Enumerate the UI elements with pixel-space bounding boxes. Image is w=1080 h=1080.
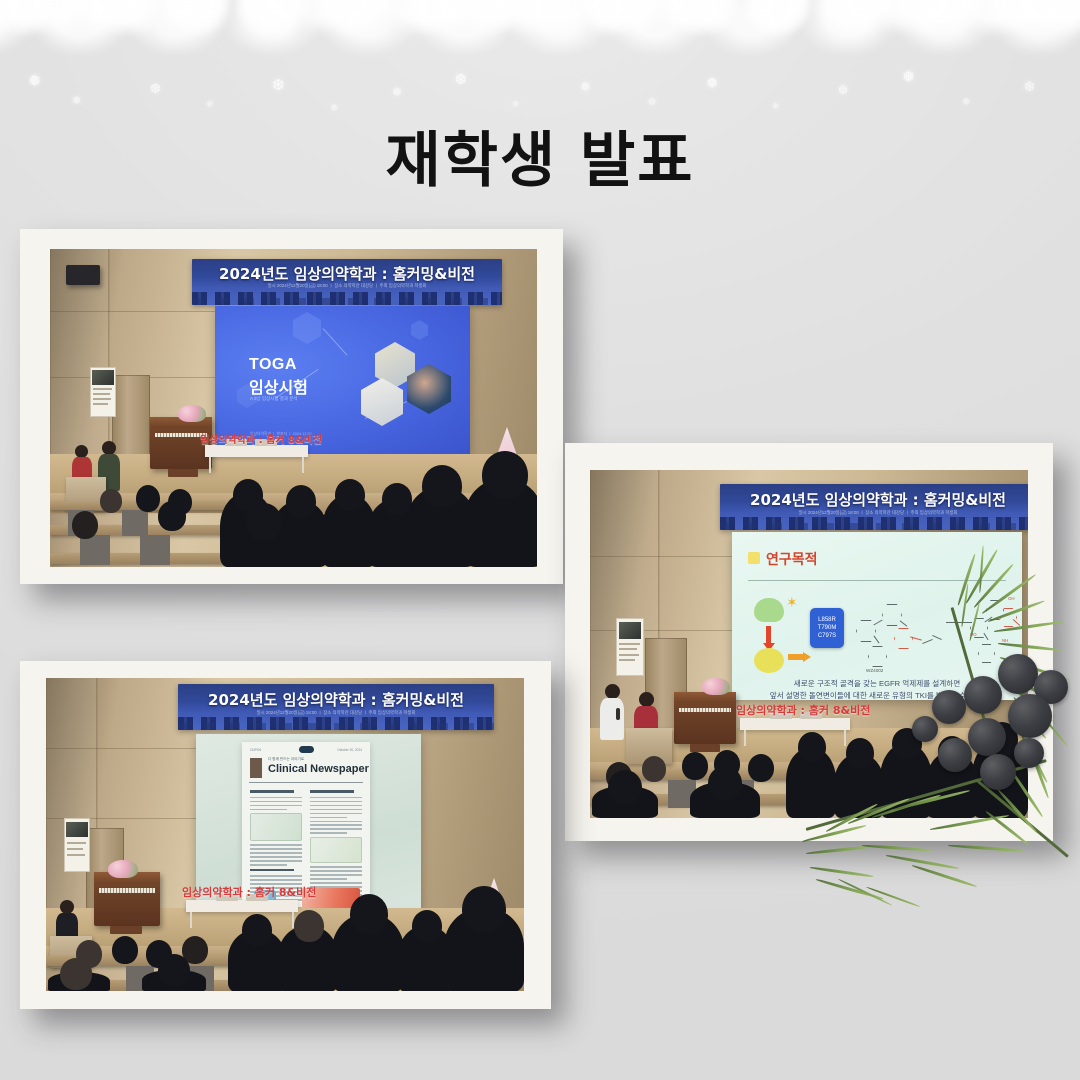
banner-title: 2024년도 임상의약학과 : 홈커밍&비전 <box>208 689 464 710</box>
poster-photo <box>66 822 87 838</box>
presenter-1 <box>600 684 624 740</box>
right-arrow-icon <box>788 654 804 660</box>
star-icon: ✶ <box>786 594 798 611</box>
bond-line <box>983 633 988 640</box>
text-line <box>310 821 362 823</box>
microphone-icon <box>616 708 620 720</box>
text-line <box>310 874 362 876</box>
hex-decor <box>411 320 428 340</box>
audience-head <box>136 485 160 512</box>
text-line <box>310 870 362 872</box>
text-line <box>310 828 362 830</box>
banner-title: 2024년도 임상의약학과 : 홈커밍&비전 <box>219 263 475 284</box>
poster-photo <box>92 370 113 384</box>
text-line <box>310 866 362 868</box>
stage-table <box>740 718 850 730</box>
chemical-structure-right: OH HO NH <box>968 588 1022 680</box>
slide-rule <box>748 580 1006 581</box>
text-line <box>310 801 362 803</box>
poster-canvas: ❅ ❅ ❆ ❅ ❆ ❅ ❅ ❆ ❅ ❅ ❆ ❅ ❅ ❆ ❅ ❅ ❆ 재학생 발표 <box>0 0 1080 1080</box>
text-line <box>250 856 302 858</box>
text-line <box>310 809 362 811</box>
newspaper-column-right <box>310 787 362 898</box>
piano-bench <box>690 744 720 752</box>
banner-title: 2024년도 임상의약학과 : 홈커밍&비전 <box>750 489 1006 510</box>
newspaper-rule <box>249 782 363 783</box>
piano-keys <box>99 888 154 892</box>
text-line <box>250 801 302 803</box>
column-figure <box>310 837 362 863</box>
bond-line <box>874 636 880 644</box>
poster-line <box>93 388 112 390</box>
text-line <box>250 848 302 850</box>
audience-head <box>892 728 922 759</box>
newspaper-logo <box>250 758 262 778</box>
down-arrow-icon <box>766 626 771 644</box>
stage-table <box>205 445 308 457</box>
audience-head <box>242 914 272 946</box>
newspaper-ko-subtitle: 다 함께 만드는 이야기로 <box>268 757 304 762</box>
text-line <box>310 805 362 807</box>
column-subhead <box>250 869 294 872</box>
protein-blob-green <box>754 598 784 622</box>
lecture-hall-scene: 2024년도 임상의약학과 : 홈커밍&비전 Homecoming & Visi… <box>590 470 1028 818</box>
wall-seam <box>46 748 206 749</box>
photo-card-clinical-newspaper[interactable]: 2024년도 임상의약학과 : 홈커밍&비전 Homecoming & Visi… <box>20 661 551 1009</box>
poster-line <box>619 659 635 661</box>
text-line <box>250 875 302 877</box>
wall-poster <box>64 818 90 872</box>
audience-head <box>158 954 190 986</box>
bond-line <box>932 635 942 640</box>
audience-head <box>682 752 708 780</box>
poster-line <box>67 842 86 844</box>
audience-head <box>112 936 138 964</box>
audience-head <box>798 732 826 762</box>
text-line <box>310 817 347 819</box>
stage-sign: 임상의약학과 : 홈커 8&비전 <box>736 702 870 718</box>
slide-heading: 연구목적 <box>766 549 818 569</box>
mutation-label-box: L858R T790M C797S <box>810 608 844 648</box>
piano <box>94 872 160 926</box>
presenter-head <box>60 900 74 914</box>
poster-line <box>67 854 85 856</box>
audience-head <box>608 770 642 804</box>
table-leg <box>190 912 192 928</box>
banner-skyline-back <box>192 298 502 305</box>
poster-line <box>93 398 111 400</box>
audience-head <box>158 501 186 531</box>
poster-photo <box>619 622 642 639</box>
poster-line <box>619 654 639 656</box>
table-leg <box>302 457 304 473</box>
table-leg <box>209 457 211 473</box>
stage-table <box>186 900 298 912</box>
audience-head <box>482 451 528 499</box>
poster-line <box>93 393 110 395</box>
wall-poster <box>616 618 644 676</box>
text-line <box>250 860 302 862</box>
audience-head <box>938 736 966 766</box>
text-line <box>250 797 302 799</box>
audience-head <box>60 958 92 990</box>
lecture-hall-scene: 2024년도 임상의약학과 : 홈커밍&비전 Homecoming & Visi… <box>46 678 524 991</box>
newspaper-masthead: Clinical Newspaper <box>268 763 369 775</box>
stage-sign: 임상의약학과 : 홈커 8&비전 <box>200 431 322 446</box>
lecture-hall-scene: 2024년도 임상의약학과 : 홈커밍&비전 일시 2024년12월20일(금)… <box>50 249 537 567</box>
ceiling-speaker-icon <box>66 265 100 285</box>
protein-blob-yellow <box>754 648 784 673</box>
ray-decor <box>323 328 348 355</box>
stage-sign: 임상의약학과 : 홈커 8&비전 <box>182 884 316 900</box>
audience-head <box>72 511 98 539</box>
projection-screen: 연구목적 ✶ L858R T790M C797S <box>732 532 1022 700</box>
poster-line <box>93 403 108 405</box>
text-line <box>310 878 347 880</box>
presenter-body <box>600 698 624 740</box>
text-line <box>310 813 362 815</box>
slide-subtitle: A 3상 임상시험 결과 분석 <box>250 396 298 402</box>
text-line <box>250 809 287 811</box>
piano-lid <box>674 692 736 703</box>
flower-arrangement <box>108 860 138 878</box>
event-banner: 2024년도 임상의약학과 : 홈커밍&비전 일시 2024년12월20일(금)… <box>192 259 502 305</box>
audience-head <box>246 503 282 541</box>
text-line <box>250 844 302 846</box>
desk-side-panel <box>80 535 110 565</box>
audience-head <box>422 465 462 507</box>
column-headline <box>310 790 354 793</box>
poster-line <box>619 648 637 650</box>
audience-head <box>412 910 442 942</box>
photo-image-clinical-newspaper: 2024년도 임상의약학과 : 홈커밍&비전 Homecoming & Visi… <box>46 678 524 991</box>
presenter-head <box>605 684 620 699</box>
banner-skyline-back <box>720 523 1028 530</box>
text-line <box>310 824 362 826</box>
newspaper-edition: CNP/04 <box>250 748 261 752</box>
text-line <box>250 864 287 866</box>
bond-line <box>873 620 882 626</box>
mutation-1: L858R <box>818 616 836 624</box>
text-line <box>250 879 302 881</box>
hydroxyl-label: OH <box>1008 596 1015 601</box>
poster-line <box>619 643 640 645</box>
column-figure <box>250 813 302 841</box>
event-banner: 2024년도 임상의약학과 : 홈커밍&비전 Homecoming & Visi… <box>178 684 494 730</box>
audience-head <box>642 756 666 782</box>
benzene-ring-highlight <box>894 628 913 649</box>
piano <box>674 692 736 744</box>
bond-line <box>922 639 933 644</box>
text-line <box>310 832 347 834</box>
audience-head <box>846 738 874 768</box>
piano-bench <box>168 469 198 477</box>
piperazine-ring <box>978 644 995 663</box>
desk-side-panel <box>122 510 148 536</box>
slide-caption-line-1: 새로운 구조적 골격을 갖는 EGFR 억제제를 설계하면 <box>732 678 1022 689</box>
event-banner: 2024년도 임상의약학과 : 홈커밍&비전 Homecoming & Visi… <box>720 484 1028 530</box>
slide-title-ko: 임상시험 <box>249 374 308 398</box>
photo-image-toga: 2024년도 임상의약학과 : 홈커밍&비전 일시 2024년12월20일(금)… <box>50 249 537 567</box>
hydroxyl-label: HO <box>970 632 977 637</box>
audience-head <box>286 485 316 518</box>
flower-arrangement <box>178 405 206 422</box>
nitrogen-label: NH <box>1002 638 1008 643</box>
photo-image-research-purpose: 2024년도 임상의약학과 : 홈커밍&비전 Homecoming & Visi… <box>590 470 1028 818</box>
banner-subtitle: 일시 2024년12월20일(금) 18:00 ㅣ 장소 의약학관 대강당 ㅣ … <box>720 510 1028 516</box>
slide-title-en: TOGA <box>249 356 297 374</box>
page-title: 재학생 발표 <box>0 112 1080 199</box>
benzene-ring <box>882 604 902 626</box>
piperazine-ring <box>868 646 887 667</box>
bond-line <box>900 620 908 626</box>
column-headline <box>250 790 294 793</box>
compound-label: WZ4002 <box>866 668 883 673</box>
text-line <box>250 805 302 807</box>
banner-skyline-back <box>178 723 494 730</box>
flower-arrangement <box>702 678 730 695</box>
desk-side-panel <box>140 535 170 565</box>
audience-head <box>986 722 1018 756</box>
photo-card-toga-presentation[interactable]: 2024년도 임상의약학과 : 홈커밍&비전 일시 2024년12월20일(금)… <box>20 229 563 584</box>
banner-subtitle: 일시 2024년12월20일(금) 18:00 ㅣ 장소 의약학관 대강당 ㅣ … <box>178 710 494 716</box>
audience-head <box>708 766 742 800</box>
mutation-3: C797S <box>818 632 836 640</box>
wall-seam <box>108 249 109 454</box>
mutation-2: T790M <box>818 624 837 632</box>
text-line <box>310 882 362 884</box>
audience-head <box>294 910 324 942</box>
poster-line <box>67 848 83 850</box>
text-line <box>310 797 362 799</box>
presenter-head <box>639 692 654 707</box>
table-leg <box>844 730 846 746</box>
presenter-head <box>102 441 116 455</box>
audience-head <box>100 489 122 513</box>
chemical-structure-left: WZ4002 <box>852 592 944 678</box>
newspaper-badge <box>299 746 314 753</box>
slide-caption-line-2: 앞서 설명한 돌연변이들에 대한 새로운 유형의 TKI를 발견할 수 있다. <box>732 690 1022 700</box>
text-line <box>250 852 302 854</box>
heading-bullet <box>748 552 760 564</box>
piano-keys <box>679 708 731 712</box>
audience-head <box>462 886 506 932</box>
wall-seam <box>50 311 220 312</box>
slide-research-purpose: 연구목적 ✶ L858R T790M C797S <box>732 532 1022 700</box>
audience-head <box>748 754 774 782</box>
piano-bench <box>110 926 142 934</box>
hex-decor <box>293 312 321 344</box>
audience-head <box>335 479 365 511</box>
table-leg <box>744 730 746 746</box>
audience-head <box>350 894 388 934</box>
photo-card-research-purpose[interactable]: 2024년도 임상의약학과 : 홈커밍&비전 Homecoming & Visi… <box>565 443 1053 841</box>
banner-subtitle: 일시 2024년12월20일(금) 18:00 ㅣ 장소 의약학관 대강당 ㅣ … <box>192 283 502 289</box>
newspaper-dateline: October 20, 2024 <box>337 748 362 752</box>
wall-poster <box>90 367 116 417</box>
